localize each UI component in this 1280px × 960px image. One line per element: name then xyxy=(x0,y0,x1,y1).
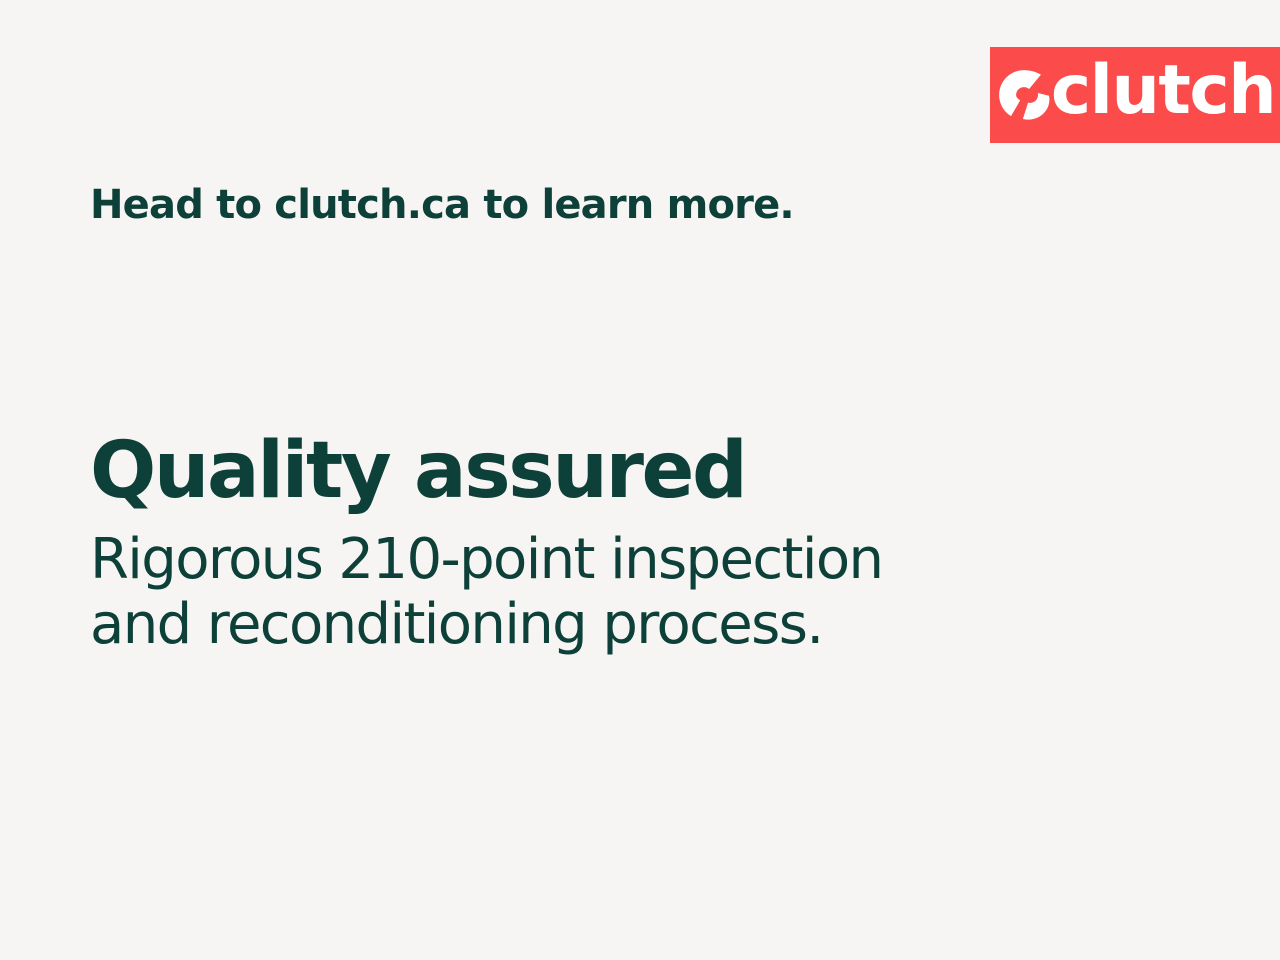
subhead-line-1: Rigorous 210-point inspection xyxy=(90,528,970,593)
brand-wordmark: clutch xyxy=(1051,57,1275,125)
clutch-c-mark-icon xyxy=(997,68,1051,122)
slide-canvas: clutch Head to clutch.ca to learn more. … xyxy=(0,0,1280,960)
subhead-text: Rigorous 210-point inspection and recond… xyxy=(90,510,970,658)
eyebrow-text: Head to clutch.ca to learn more. xyxy=(90,181,794,229)
subhead-line-2: and reconditioning process. xyxy=(90,593,970,658)
page-title: Quality assured xyxy=(90,432,1090,510)
brand-lockup: clutch xyxy=(997,65,1279,125)
brand-banner: clutch xyxy=(990,47,1280,143)
headline-block: Quality assured Rigorous 210-point inspe… xyxy=(90,432,1090,658)
